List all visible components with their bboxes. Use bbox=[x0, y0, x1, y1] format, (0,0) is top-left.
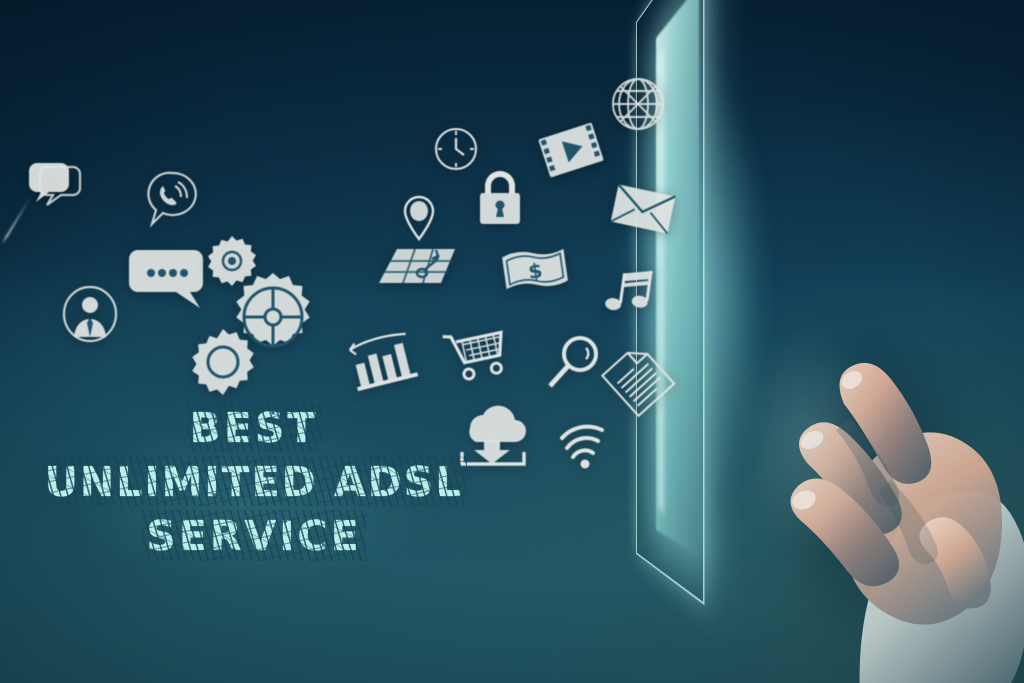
user-avatar-icon bbox=[62, 285, 118, 343]
phone-call-bubble-icon bbox=[145, 170, 199, 228]
wifi-icon bbox=[558, 424, 608, 470]
shopping-cart-icon bbox=[444, 326, 510, 392]
padlock-icon bbox=[477, 170, 523, 226]
magnifier-icon bbox=[546, 334, 602, 392]
clock-icon bbox=[434, 127, 478, 171]
dollar-bill-icon: $ bbox=[501, 245, 569, 293]
chat-bubbles-icon bbox=[27, 163, 89, 215]
map-route-pin-icon bbox=[375, 193, 467, 291]
headline-line-3: SERVICE bbox=[24, 516, 484, 556]
bar-chart-icon bbox=[348, 332, 420, 394]
hand-rim-light bbox=[750, 308, 950, 638]
page-title: BEST UNLIMITED ADSL SERVICE bbox=[24, 408, 484, 557]
music-note-icon bbox=[604, 266, 652, 318]
speech-bubble-ellipsis-icon bbox=[128, 248, 206, 310]
gear-small-bottom-icon bbox=[189, 328, 257, 396]
hand bbox=[740, 228, 1024, 683]
documents-icon bbox=[606, 346, 672, 412]
banner-image: $ bbox=[0, 0, 1024, 683]
globe-wireframe-icon bbox=[610, 76, 666, 132]
headline-line-2: UNLIMITED ADSL bbox=[24, 462, 484, 502]
video-film-play-icon bbox=[540, 120, 602, 180]
headline-line-1: BEST bbox=[24, 408, 484, 448]
envelope-icon bbox=[612, 182, 674, 236]
